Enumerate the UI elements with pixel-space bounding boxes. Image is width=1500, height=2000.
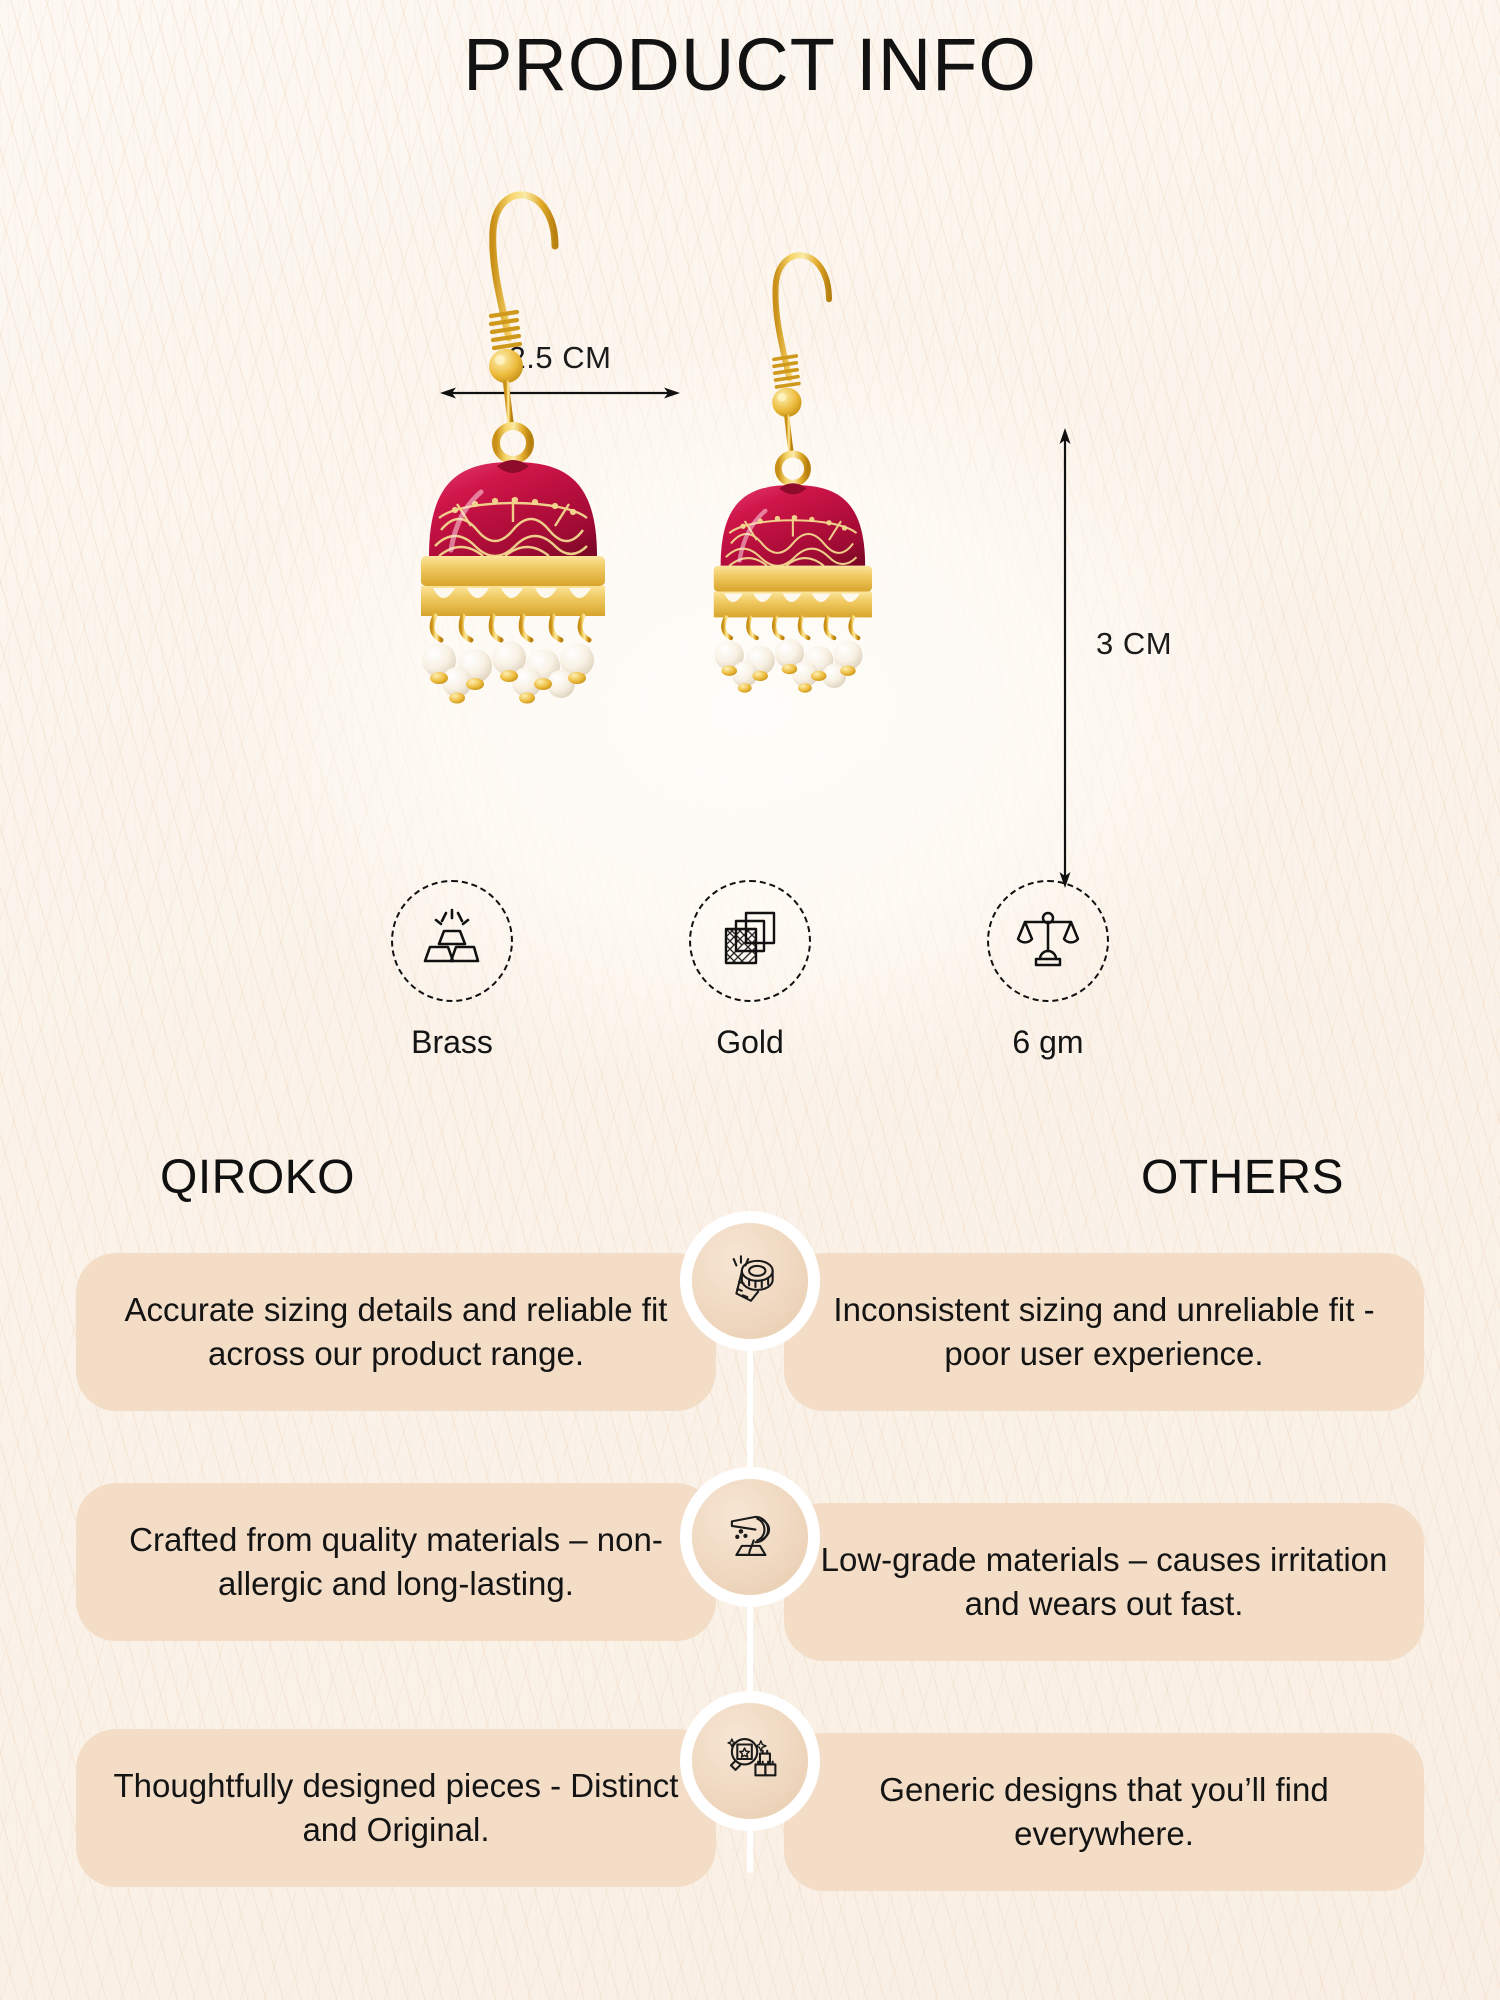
unique-design-search-icon bbox=[721, 1730, 779, 1793]
brand-point-2: Crafted from quality materials – non-all… bbox=[76, 1483, 716, 1641]
fabric-swatch-icon bbox=[718, 907, 782, 976]
others-heading: OTHERS bbox=[755, 1150, 1500, 1205]
others-point-2: Low-grade materials – causes irritation … bbox=[784, 1503, 1424, 1661]
product-info-page: PRODUCT INFO 2.5 CM 3 CM bbox=[0, 0, 1500, 2000]
brand-point-1: Accurate sizing details and reliable fit… bbox=[76, 1253, 716, 1411]
row-node-3 bbox=[692, 1703, 808, 1819]
spec-item-material: Brass bbox=[357, 880, 547, 1061]
metal-pouring-icon bbox=[721, 1506, 779, 1569]
spec-item-weight: 6 gm bbox=[953, 880, 1143, 1061]
page-title: PRODUCT INFO bbox=[0, 0, 1500, 104]
earring-pair bbox=[0, 118, 1500, 818]
earring-right bbox=[700, 196, 958, 734]
spec-item-plating: Gold bbox=[655, 880, 845, 1061]
spec-circle-brass bbox=[391, 880, 513, 1002]
balance-scale-icon bbox=[1016, 907, 1080, 976]
brand-heading: QIROKO bbox=[0, 1150, 755, 1205]
product-image-area: 2.5 CM 3 CM bbox=[0, 118, 1500, 818]
spec-label-weight: 6 gm bbox=[953, 1024, 1143, 1061]
spec-list: Brass Gold bbox=[0, 880, 1500, 1061]
comparison-row: Thoughtfully designed pieces - Distinct … bbox=[0, 1707, 1500, 1907]
row-node-2 bbox=[692, 1479, 808, 1595]
brand-point-3: Thoughtfully designed pieces - Distinct … bbox=[76, 1729, 716, 1887]
comparison-headings: QIROKO OTHERS bbox=[0, 1150, 1500, 1205]
spec-circle-weight bbox=[987, 880, 1109, 1002]
gold-bars-icon bbox=[420, 907, 484, 976]
others-point-1: Inconsistent sizing and unreliable fit -… bbox=[784, 1253, 1424, 1411]
earring-left bbox=[405, 126, 705, 751]
measuring-tape-icon bbox=[721, 1250, 779, 1313]
spec-circle-gold bbox=[689, 880, 811, 1002]
comparison-rows: Accurate sizing details and reliable fit… bbox=[0, 1231, 1500, 1907]
spec-label-brass: Brass bbox=[357, 1024, 547, 1061]
others-point-3: Generic designs that you’ll find everywh… bbox=[784, 1733, 1424, 1891]
row-node-1 bbox=[692, 1223, 808, 1339]
spec-label-gold: Gold bbox=[655, 1024, 845, 1061]
comparison-section: QIROKO OTHERS Accurate sizing details an… bbox=[0, 1150, 1500, 1945]
